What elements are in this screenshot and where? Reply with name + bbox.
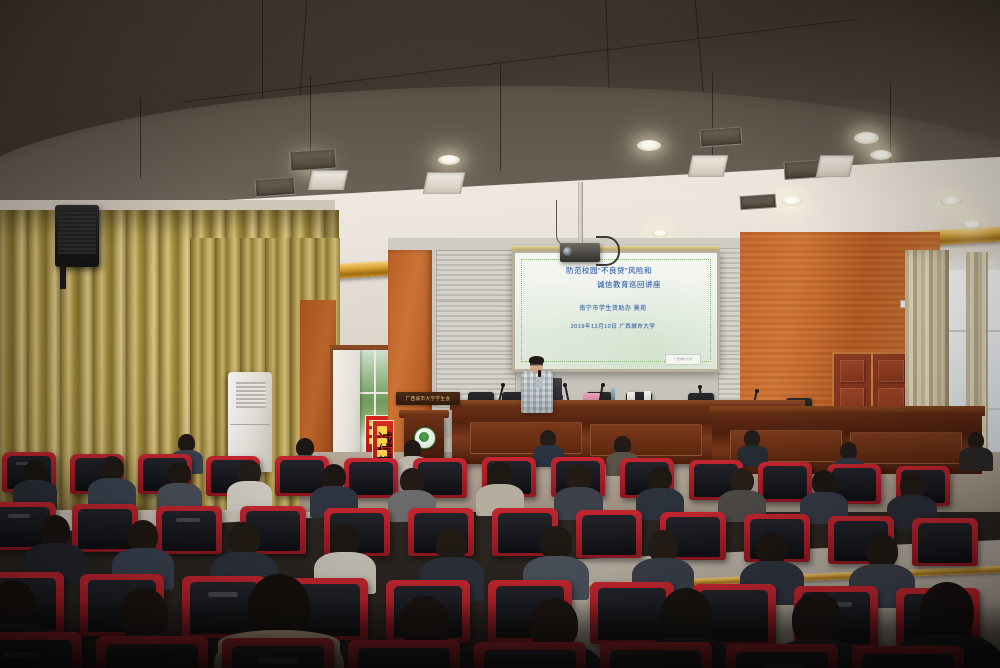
podium-sign-text: 广西城市大学学生会 bbox=[396, 392, 460, 405]
slide-text-block: 防范校园“不良贷”风险和 诚信教育巡回讲座 南宁市学生资助办 莫苑 2019年1… bbox=[520, 265, 712, 330]
slide-corner-label: 广西城市大学 bbox=[665, 354, 701, 365]
ac-vent bbox=[699, 127, 742, 148]
ceiling-seam bbox=[500, 66, 501, 171]
door-panel bbox=[878, 360, 904, 382]
slide-presenter: 南宁市学生资助办 莫苑 bbox=[514, 303, 712, 312]
presenter-glasses-icon bbox=[531, 364, 542, 368]
microphone-head-icon bbox=[755, 389, 759, 393]
projector-cable bbox=[556, 200, 569, 247]
downlight bbox=[637, 140, 661, 151]
microphone-head-icon bbox=[601, 383, 605, 387]
ac-diffuser bbox=[816, 155, 855, 177]
slide-corner-label-text: 广西城市大学 bbox=[666, 355, 700, 364]
downlight bbox=[940, 196, 962, 206]
auditorium-seat[interactable] bbox=[576, 510, 642, 558]
auditorium-seat[interactable] bbox=[72, 504, 138, 552]
projector-lens-icon bbox=[563, 247, 572, 256]
speaker-grill bbox=[58, 210, 96, 254]
downlight bbox=[870, 150, 892, 160]
downlight bbox=[781, 196, 803, 206]
ceiling-seam bbox=[890, 82, 891, 174]
downlight bbox=[652, 230, 668, 237]
presenter-hair bbox=[529, 356, 544, 364]
acoustic-slat-panel bbox=[436, 250, 516, 302]
door-panel bbox=[840, 360, 864, 382]
air-conditioner-grill bbox=[236, 382, 266, 408]
slide-date-venue: 2019年12月10日 广西城市大学 bbox=[514, 322, 712, 330]
handheld-microphone bbox=[538, 370, 541, 377]
speaker-bracket bbox=[60, 265, 66, 289]
acoustic-slat-panel bbox=[436, 301, 516, 355]
slide-title-line1: 防范校园“不良贷”风险和 bbox=[506, 265, 712, 276]
downlight bbox=[438, 155, 460, 165]
ac-vent bbox=[740, 194, 777, 210]
microphone-head-icon bbox=[501, 383, 505, 387]
ac-diffuser bbox=[688, 155, 729, 177]
podium-overhead-sign: 广西城市大学学生会 bbox=[396, 392, 460, 405]
foreground-shadow bbox=[0, 600, 1000, 668]
slide-title-line2: 诚信教育巡回讲座 bbox=[546, 279, 712, 290]
ac-vent bbox=[289, 148, 336, 171]
projector-mount-pole bbox=[578, 182, 583, 247]
ac-vent bbox=[254, 177, 295, 198]
downlight bbox=[854, 132, 879, 144]
downlight bbox=[962, 220, 982, 229]
auditorium-seat[interactable] bbox=[156, 506, 222, 554]
lecture-hall-photo: 防范校园“不良贷”风险和 诚信教育巡回讲座 南宁市学生资助办 莫苑 2019年1… bbox=[0, 0, 1000, 668]
ac-diffuser bbox=[423, 172, 466, 194]
ac-diffuser bbox=[308, 170, 348, 190]
microphone-head-icon bbox=[563, 383, 567, 387]
microphone-head-icon bbox=[698, 385, 702, 389]
ceiling-seam bbox=[140, 98, 141, 178]
auditorium-seat[interactable] bbox=[912, 518, 978, 566]
